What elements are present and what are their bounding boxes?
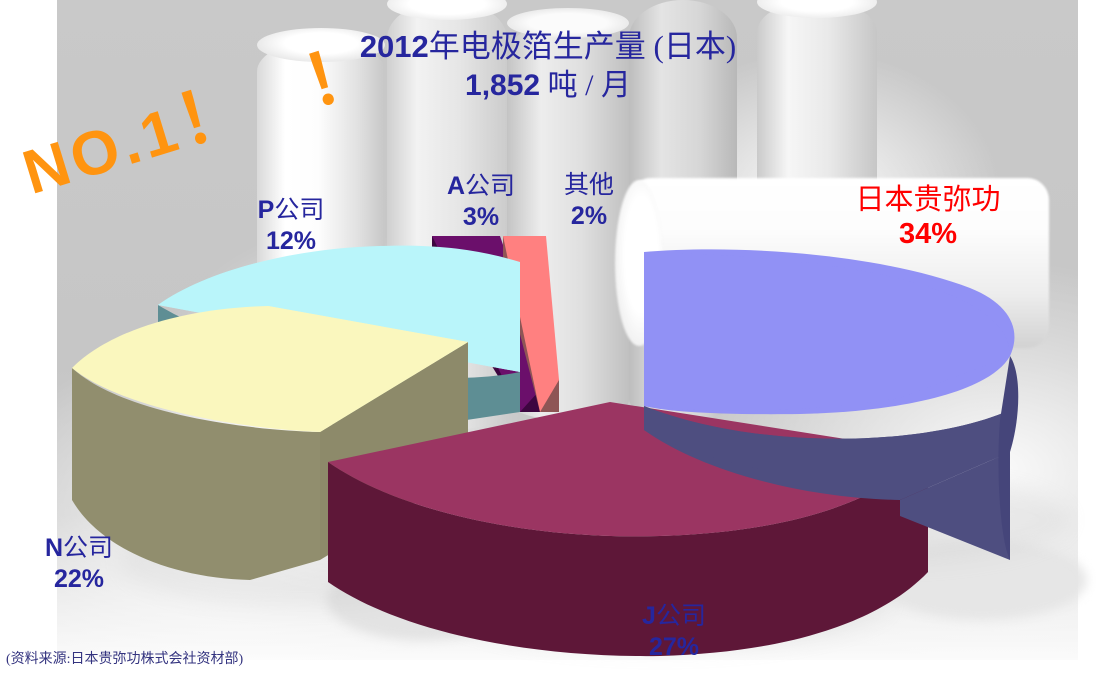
label-j-company: J公司 27%: [604, 602, 744, 661]
label-p-company-cjk: 公司: [274, 197, 324, 224]
label-j-company-latin: J: [642, 602, 656, 630]
label-other: 其他 2%: [536, 172, 642, 230]
label-n-company-pct: 22%: [8, 565, 150, 594]
label-nippon-pct: 34%: [818, 218, 1038, 251]
slide-canvas: 2012年电极箔生产量 (日本) 1,852 吨 / 月 NO.1！ ！ P公司…: [0, 0, 1096, 678]
label-a-company-latin: A: [447, 172, 465, 200]
label-nippon-name: 日本贵弥功: [855, 184, 1000, 216]
label-j-company-cjk: 公司: [656, 603, 706, 630]
label-a-company-cjk: 公司: [465, 173, 515, 200]
label-p-company-name: P公司: [258, 197, 325, 224]
label-other-name: 其他: [564, 172, 614, 199]
source-note: (资料来源:日本贵弥功株式会社资材部): [6, 648, 243, 668]
label-other-cjk: 其他: [564, 172, 614, 199]
label-a-company-pct: 3%: [425, 203, 537, 232]
label-j-company-pct: 27%: [604, 633, 744, 662]
label-nippon-cjk: 日本贵弥功: [855, 184, 1000, 216]
label-p-company-pct: 12%: [226, 227, 356, 256]
label-n-company-latin: N: [45, 534, 63, 562]
label-p-company: P公司 12%: [226, 196, 356, 255]
label-n-company-name: N公司: [45, 535, 113, 562]
label-n-company: N公司 22%: [8, 534, 150, 593]
label-nippon-chemicon: 日本贵弥功 34%: [818, 184, 1038, 251]
label-j-company-name: J公司: [642, 603, 706, 630]
label-p-company-latin: P: [258, 196, 275, 224]
label-other-pct: 2%: [536, 202, 642, 231]
label-a-company-name: A公司: [447, 173, 515, 200]
label-n-company-cjk: 公司: [63, 535, 113, 562]
label-a-company: A公司 3%: [425, 172, 537, 231]
